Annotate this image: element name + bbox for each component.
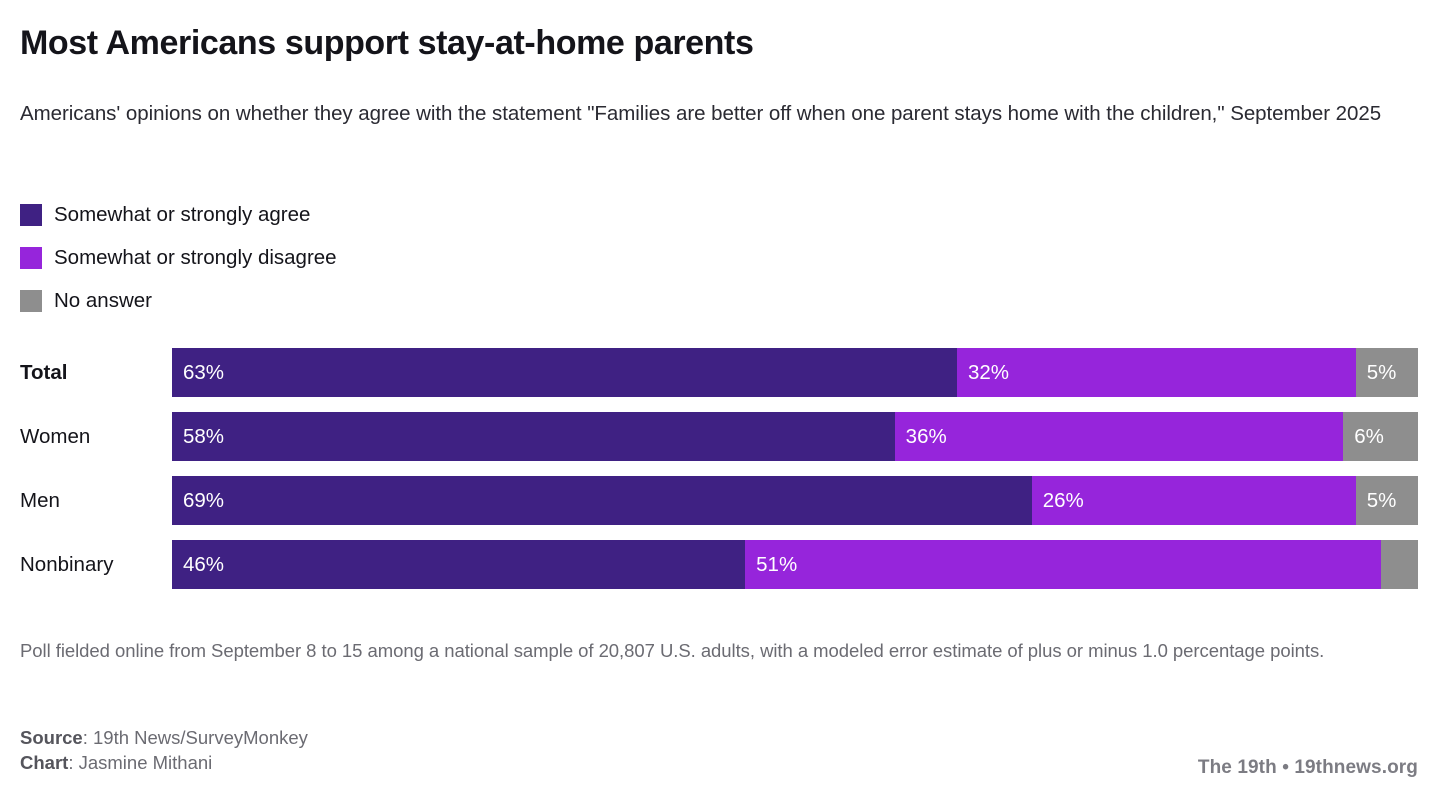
bar-chart-plot: Total 63% 32% 5% Women 58% 36% [0,348,1440,604]
legend-swatch-agree [20,204,42,226]
chart-credit-value: : Jasmine Mithani [68,752,212,773]
bar-segment-value: 63% [172,348,224,397]
bar-segment-value: 51% [745,540,797,589]
chart-subtitle: Americans' opinions on whether they agre… [20,98,1412,129]
bar-segment-no-answer: 6% [1343,412,1418,461]
chart-credit-label: Chart [20,752,68,773]
bar-row: Total 63% 32% 5% [0,348,1440,397]
source-value: : 19th News/SurveyMonkey [83,727,308,748]
bar-segment-disagree: 32% [957,348,1356,397]
bar-segment-agree: 46% [172,540,745,589]
bar-segment-no-answer: 5% [1356,476,1418,525]
bar-row: Women 58% 36% 6% [0,412,1440,461]
bar-segment-value: 5% [1356,348,1397,397]
legend-label-disagree: Somewhat or strongly disagree [54,246,337,270]
legend-swatch-disagree [20,247,42,269]
bar-row: Men 69% 26% 5% [0,476,1440,525]
bar-track: 46% 51% [172,540,1418,589]
bar-row: Nonbinary 46% 51% [0,540,1440,589]
legend-label-agree: Somewhat or strongly agree [54,203,310,227]
bar-segment-value: 46% [172,540,224,589]
bar-segment-disagree: 26% [1032,476,1356,525]
page-title: Most Americans support stay-at-home pare… [20,22,1420,64]
bar-row-label: Men [20,476,60,525]
bar-segment-value: 26% [1032,476,1084,525]
bar-row-label: Total [20,348,67,397]
brand-attribution: The 19th • 19thnews.org [1198,757,1418,779]
bar-track: 69% 26% 5% [172,476,1418,525]
source-line: Source: 19th News/SurveyMonkey [20,725,308,750]
chart-page: Most Americans support stay-at-home pare… [0,0,1440,807]
chart-credit-line: Chart: Jasmine Mithani [20,750,308,775]
bar-segment-value: 36% [895,412,947,461]
source-label: Source [20,727,83,748]
bar-segment-no-answer [1381,540,1418,589]
bar-segment-agree: 63% [172,348,957,397]
legend-item-agree: Somewhat or strongly agree [20,200,720,229]
bar-row-label: Nonbinary [20,540,113,589]
bar-segment-disagree: 51% [745,540,1380,589]
legend-swatch-no-answer [20,290,42,312]
bar-segment-value: 6% [1343,412,1384,461]
bar-segment-value: 58% [172,412,224,461]
bar-track: 58% 36% 6% [172,412,1418,461]
legend-item-no-answer: No answer [20,286,720,315]
bar-segment-disagree: 36% [895,412,1344,461]
bar-segment-value: 5% [1356,476,1397,525]
legend-item-disagree: Somewhat or strongly disagree [20,243,720,272]
bar-row-label: Women [20,412,90,461]
bar-segment-value: 32% [957,348,1009,397]
bar-segment-value: 69% [172,476,224,525]
bar-track: 63% 32% 5% [172,348,1418,397]
bar-segment-no-answer: 5% [1356,348,1418,397]
chart-credits: Source: 19th News/SurveyMonkey Chart: Ja… [20,725,308,775]
bar-segment-agree: 69% [172,476,1032,525]
chart-footnote: Poll fielded online from September 8 to … [20,636,1420,665]
chart-legend: Somewhat or strongly agree Somewhat or s… [20,200,720,329]
legend-label-no-answer: No answer [54,289,152,313]
bar-segment-agree: 58% [172,412,895,461]
